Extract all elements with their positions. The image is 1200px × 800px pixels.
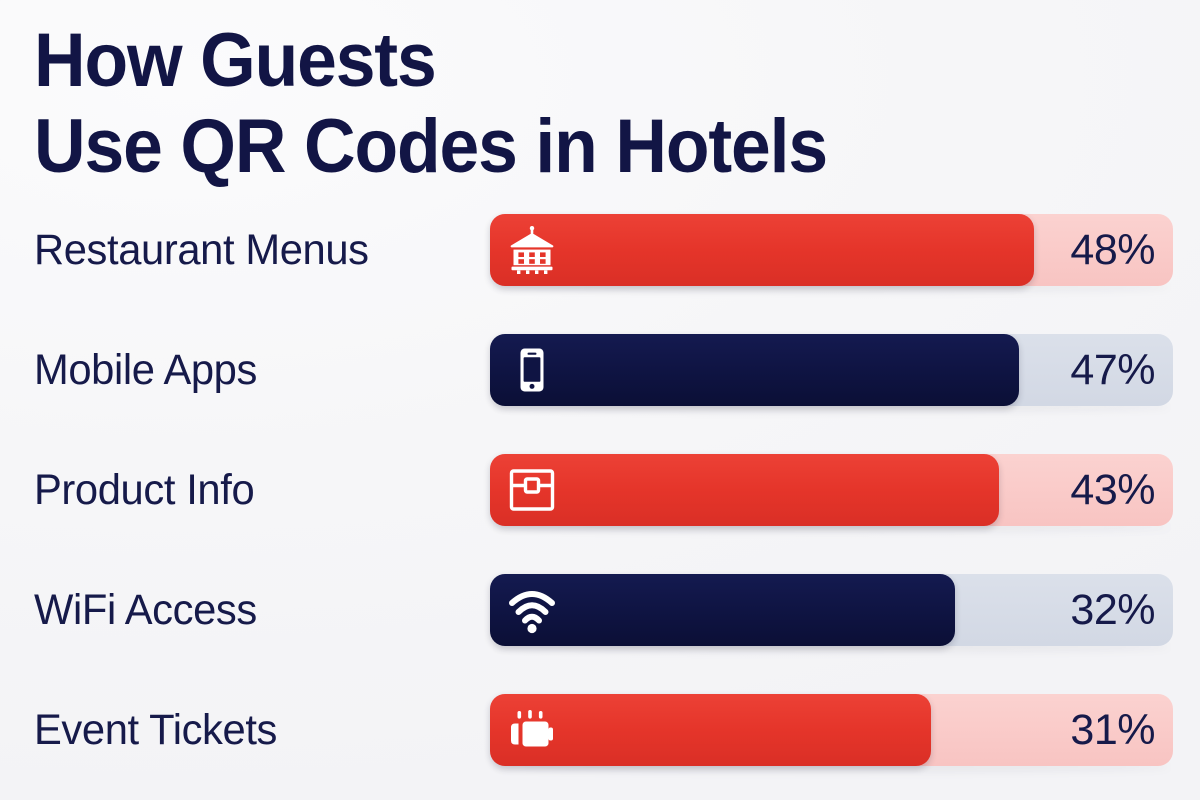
wifi-icon [506, 584, 558, 636]
smartphone-icon [506, 344, 558, 396]
bar-value-product-info: 43% [1070, 454, 1155, 526]
ticket-icon [506, 704, 558, 756]
package-box-icon [506, 464, 558, 516]
chart-row-product-info: Product Info 43% [0, 454, 1200, 574]
bar-track-restaurant-menus: 48% [490, 214, 1173, 286]
row-label-restaurant-menus: Restaurant Menus [34, 214, 369, 286]
bar-value-wifi-access: 32% [1070, 574, 1155, 646]
bar-track-mobile-apps: 47% [490, 334, 1173, 406]
row-label-product-info: Product Info [34, 454, 254, 526]
title-line-2: Use QR Codes in Hotels [34, 104, 1096, 190]
bar-value-event-tickets: 31% [1070, 694, 1155, 766]
bar-value-mobile-apps: 47% [1070, 334, 1155, 406]
bar-track-event-tickets: 31% [490, 694, 1173, 766]
page-title: How Guests Use QR Codes in Hotels [34, 18, 1164, 190]
chart-row-wifi-access: WiFi Access 32% [0, 574, 1200, 694]
bar-fill-product-info [490, 454, 999, 526]
bar-track-product-info: 43% [490, 454, 1173, 526]
row-label-mobile-apps: Mobile Apps [34, 334, 257, 406]
building-icon [506, 224, 558, 276]
chart-row-restaurant-menus: Restaurant Menus [0, 214, 1200, 334]
bar-track-wifi-access: 32% [490, 574, 1173, 646]
title-line-1: How Guests [34, 18, 1096, 104]
row-label-wifi-access: WiFi Access [34, 574, 257, 646]
bar-fill-event-tickets [490, 694, 931, 766]
bar-fill-wifi-access [490, 574, 955, 646]
chart-row-event-tickets: Event Tickets 31% [0, 694, 1200, 800]
bar-fill-mobile-apps [490, 334, 1019, 406]
bar-fill-restaurant-menus [490, 214, 1034, 286]
bar-value-restaurant-menus: 48% [1070, 214, 1155, 286]
infographic-poster: How Guests Use QR Codes in Hotels Restau… [0, 0, 1200, 800]
chart-row-mobile-apps: Mobile Apps 47% [0, 334, 1200, 454]
bar-chart: Restaurant Menus [0, 214, 1200, 800]
row-label-event-tickets: Event Tickets [34, 694, 277, 766]
